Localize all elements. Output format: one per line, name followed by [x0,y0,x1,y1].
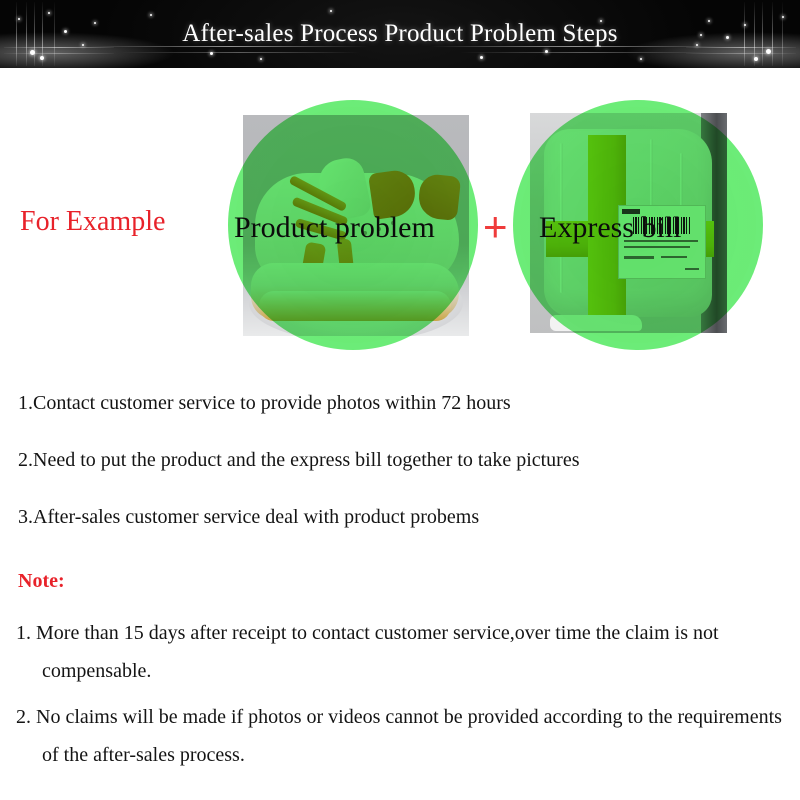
plus-icon: + [483,208,508,246]
label-text-line [624,256,654,259]
label-text-line [624,246,690,248]
example-row: For Example + [0,68,800,368]
shoe-sole-lower [259,291,451,321]
step-item: 3.After-sales customer service deal with… [18,506,782,528]
for-example-label: For Example [20,206,165,238]
step-item: 1.Contact customer service to provide ph… [18,392,782,414]
steps-list: 1.Contact customer service to provide ph… [18,392,782,563]
note-list: 1. More than 15 days after receipt to co… [16,614,794,782]
note-item: 2. No claims will be made if photos or v… [16,698,794,774]
page-title: After-sales Process Product Problem Step… [0,0,800,68]
note-heading: Note: [18,570,65,593]
product-problem-caption: Product problem [234,211,435,245]
header-banner: After-sales Process Product Problem Step… [0,0,800,68]
parcel-bottom-highlight [550,315,642,331]
label-text-line [661,256,687,258]
label-text-line [685,268,699,270]
express-bill-caption: Express bill [539,211,682,245]
step-item: 2.Need to put the product and the expres… [18,449,782,471]
note-item: 1. More than 15 days after receipt to co… [16,614,794,690]
